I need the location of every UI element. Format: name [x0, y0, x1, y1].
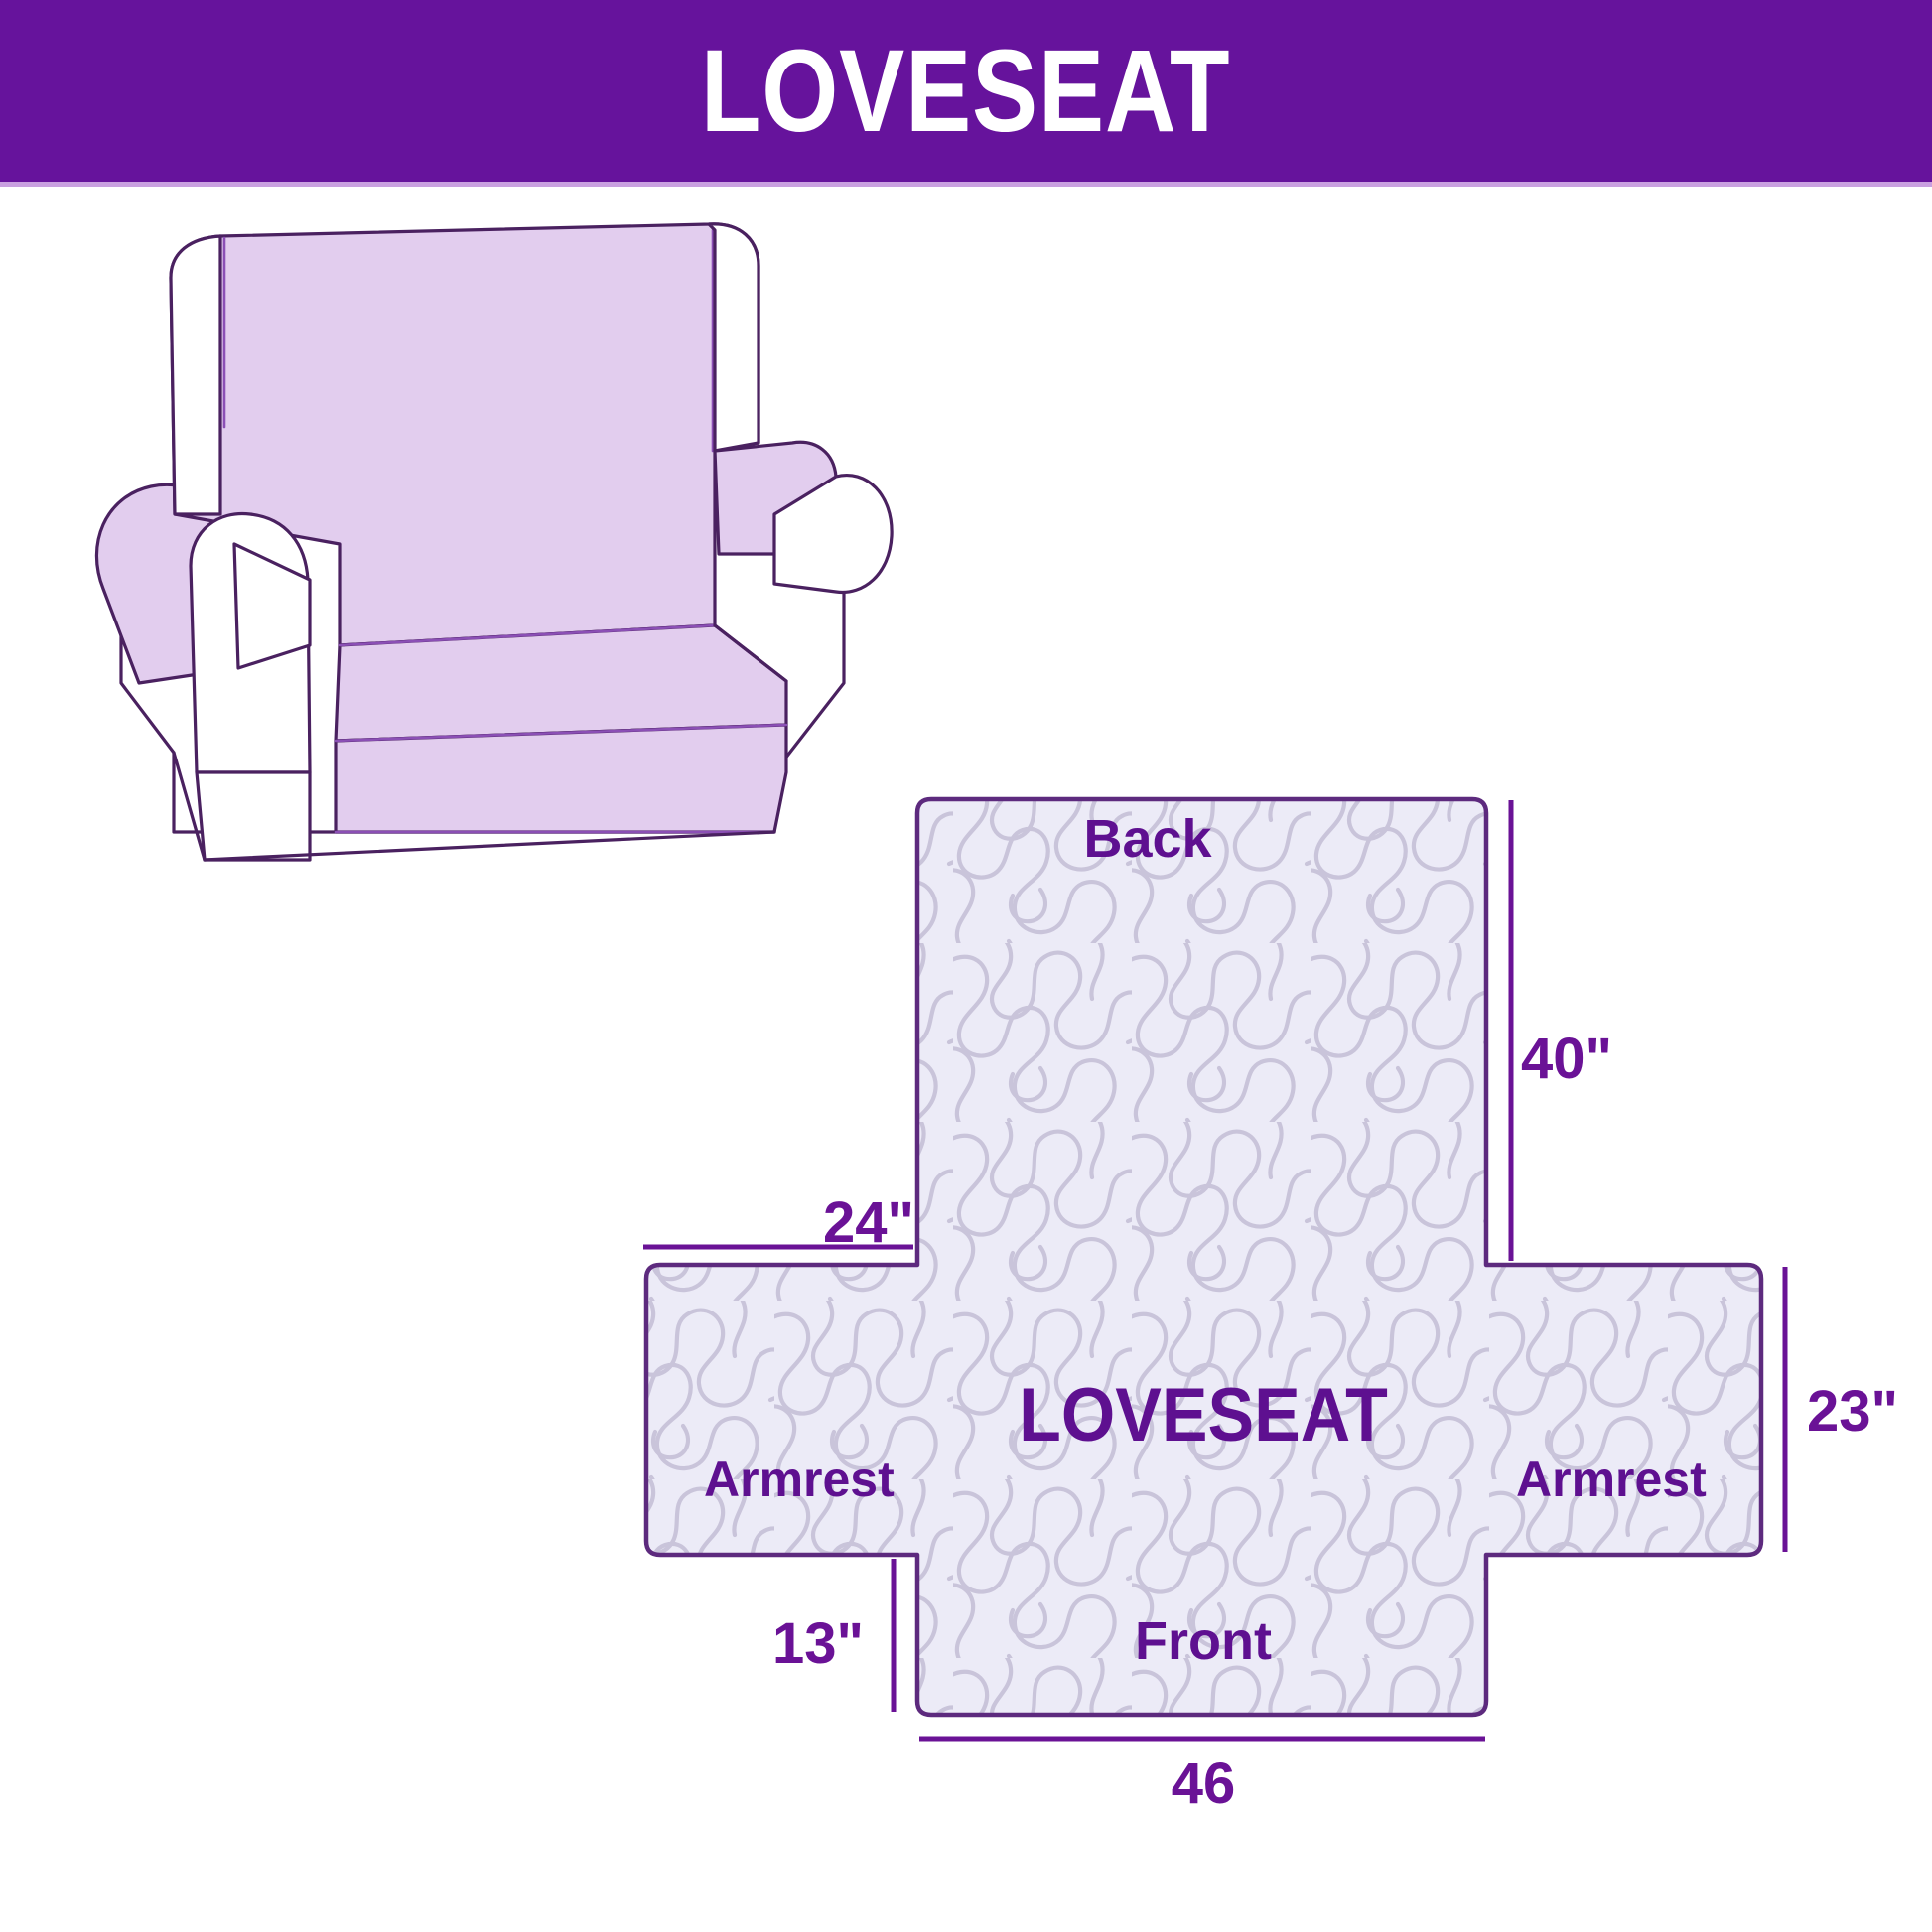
- dimension-label-back-height: 40": [1521, 1031, 1612, 1088]
- dimension-label-back-width: 24": [823, 1194, 914, 1252]
- dimension-label-front-width: 46: [1172, 1755, 1236, 1813]
- panel-label-armrest-right: Armrest: [1516, 1454, 1707, 1504]
- header-banner: LOVESEAT: [0, 0, 1932, 182]
- panel-label-back: Back: [1083, 812, 1211, 866]
- page-title: LOVESEAT: [701, 33, 1231, 150]
- dimension-label-front-drop: 13": [772, 1615, 864, 1673]
- pattern-center-label: LOVESEAT: [1019, 1378, 1388, 1453]
- panel-label-front: Front: [1135, 1614, 1272, 1668]
- header-divider: [0, 182, 1932, 187]
- panel-label-armrest-left: Armrest: [704, 1454, 895, 1504]
- dimension-label-armrest-depth: 23": [1807, 1383, 1898, 1441]
